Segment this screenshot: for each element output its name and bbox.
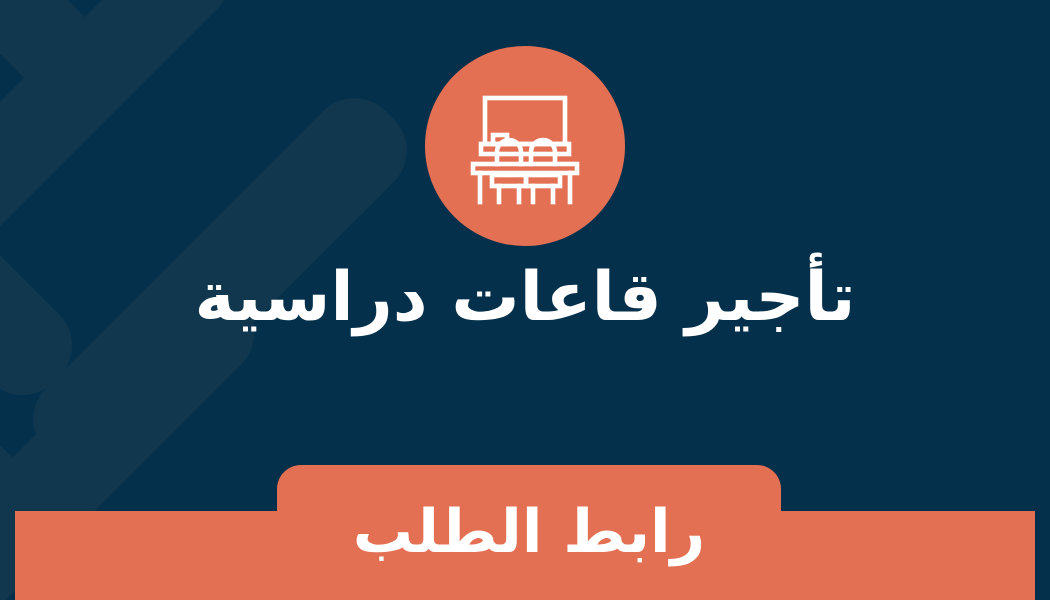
classroom-icon bbox=[461, 82, 589, 210]
page-title: تأجير قاعات دراسية bbox=[0, 255, 1050, 340]
classroom-icon-badge bbox=[425, 46, 625, 246]
decor-bar-2 bbox=[0, 0, 248, 282]
decor-bar-1 bbox=[0, 0, 114, 107]
promo-card: تأجير قاعات دراسية رابط الطلب bbox=[0, 0, 1050, 600]
order-link-button[interactable]: رابط الطلب bbox=[277, 465, 781, 600]
